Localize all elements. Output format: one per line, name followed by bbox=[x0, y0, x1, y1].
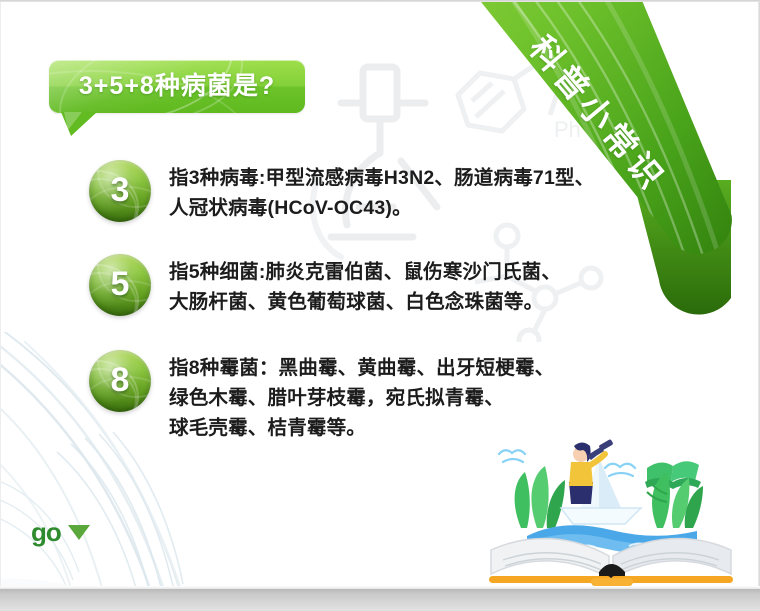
poster-page: Ph bbox=[1, 2, 758, 586]
item-line: 指8种霉菌：黑曲霉、黄曲霉、出牙短梗霉、 bbox=[169, 353, 554, 383]
item-line: 人冠状病毒(HCoV-OC43)。 bbox=[169, 193, 594, 223]
bubble-tail-highlight bbox=[64, 112, 82, 130]
item-line: 指5种细菌:肺炎克雷伯菌、鼠伤寒沙门氏菌、 bbox=[169, 257, 561, 287]
item-text-block: 指8种霉菌：黑曲霉、黄曲霉、出牙短梗霉、 绿色木霉、腊叶芽枝霉，宛氏拟青霉、 球… bbox=[169, 350, 554, 443]
page-title: 3+5+8种病菌是? bbox=[49, 60, 305, 113]
item-text-block: 指3种病毒:甲型流感病毒H3N2、肠道病毒71型、 人冠状病毒(HCoV-OC4… bbox=[169, 160, 594, 223]
frame-bottom-bar bbox=[0, 589, 760, 611]
plant-left bbox=[515, 466, 565, 528]
woman-with-telescope-icon bbox=[569, 439, 614, 504]
list-item: 3 指3种病毒:甲型流感病毒H3N2、肠道病毒71型、 人冠状病毒(HCoV-O… bbox=[89, 160, 594, 223]
open-book-illustration bbox=[481, 432, 741, 586]
water-waves bbox=[527, 525, 697, 554]
ribbon-label: 科普小常识 bbox=[520, 24, 750, 285]
badge-number-label: 8 bbox=[89, 350, 151, 412]
list-item: 8 指8种霉菌：黑曲霉、黄曲霉、出牙短梗霉、 绿色木霉、腊叶芽枝霉，宛氏拟青霉、… bbox=[89, 350, 554, 443]
number-badge-3: 3 bbox=[89, 160, 151, 222]
poster-canvas: Ph bbox=[0, 0, 760, 611]
item-line: 球毛壳霉、桔青霉等。 bbox=[169, 413, 554, 443]
brand-logo[interactable]: go bbox=[31, 519, 90, 545]
number-badge-8: 8 bbox=[89, 350, 151, 412]
item-line: 指3种病毒:甲型流感病毒H3N2、肠道病毒71型、 bbox=[169, 163, 594, 193]
brand-logo-text: go bbox=[31, 519, 61, 545]
paper-boat-icon bbox=[561, 458, 641, 524]
number-badge-5: 5 bbox=[89, 254, 151, 316]
item-line: 绿色木霉、腊叶芽枝霉，宛氏拟青霉、 bbox=[169, 383, 554, 413]
flying-book-icon bbox=[645, 461, 701, 489]
badge-number-label: 5 bbox=[89, 254, 151, 316]
chevron-down-icon bbox=[68, 525, 90, 540]
open-book-icon bbox=[489, 539, 733, 586]
item-text-block: 指5种细菌:肺炎克雷伯菌、鼠伤寒沙门氏菌、 大肠杆菌、黄色葡萄球菌、白色念珠菌等… bbox=[169, 254, 561, 317]
plant-right bbox=[647, 472, 703, 528]
list-item: 5 指5种细菌:肺炎克雷伯菌、鼠伤寒沙门氏菌、 大肠杆菌、黄色葡萄球菌、白色念珠… bbox=[89, 254, 561, 317]
badge-number-label: 3 bbox=[89, 160, 151, 222]
item-line: 大肠杆菌、黄色葡萄球菌、白色念珠菌等。 bbox=[169, 287, 561, 317]
